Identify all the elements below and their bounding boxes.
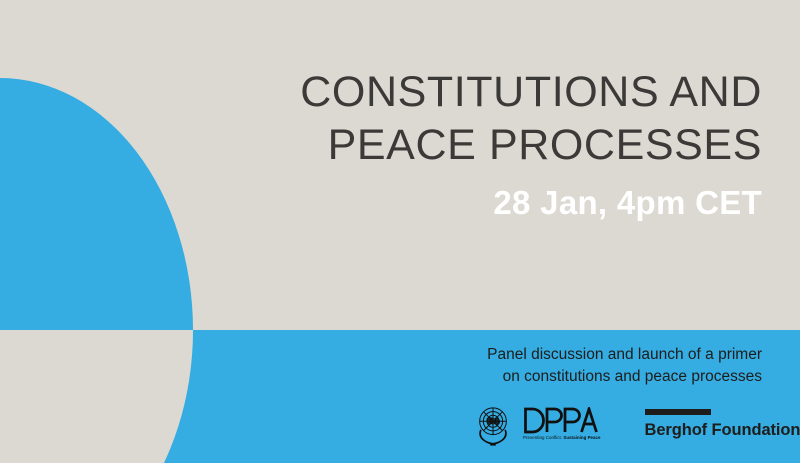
headline-line-1: CONSTITUTIONS AND [242,66,762,119]
dppa-wordmark: Preventing Conflict. Sustaining Peace [523,407,601,442]
headline-block: CONSTITUTIONS AND PEACE PROCESSES 28 Jan… [242,66,762,221]
berghof-foundation-logo: Berghof Foundation [645,409,800,440]
dppa-letters-icon [523,407,599,434]
subtitle-line-1: Panel discussion and launch of a primer [282,344,762,366]
berghof-bar-icon [645,409,711,415]
un-dppa-logo: Preventing Conflict. Sustaining Peace [470,399,601,449]
dppa-tagline: Preventing Conflict. Sustaining Peace [523,435,601,441]
headline-line-2: PEACE PROCESSES [242,119,762,172]
dppa-tagline-regular: Preventing Conflict. [523,435,562,440]
dppa-tagline-bold: Sustaining Peace [563,435,600,440]
poster-canvas: CONSTITUTIONS AND PEACE PROCESSES 28 Jan… [0,0,800,463]
subtitle-line-2: on constitutions and peace processes [282,366,762,388]
subtitle-block: Panel discussion and launch of a primer … [282,344,762,388]
logo-strip: Preventing Conflict. Sustaining Peace Be… [470,396,780,452]
un-emblem-icon [470,401,516,447]
berghof-foundation-name: Berghof Foundation [645,421,800,440]
event-date-time: 28 Jan, 4pm CET [242,184,762,221]
